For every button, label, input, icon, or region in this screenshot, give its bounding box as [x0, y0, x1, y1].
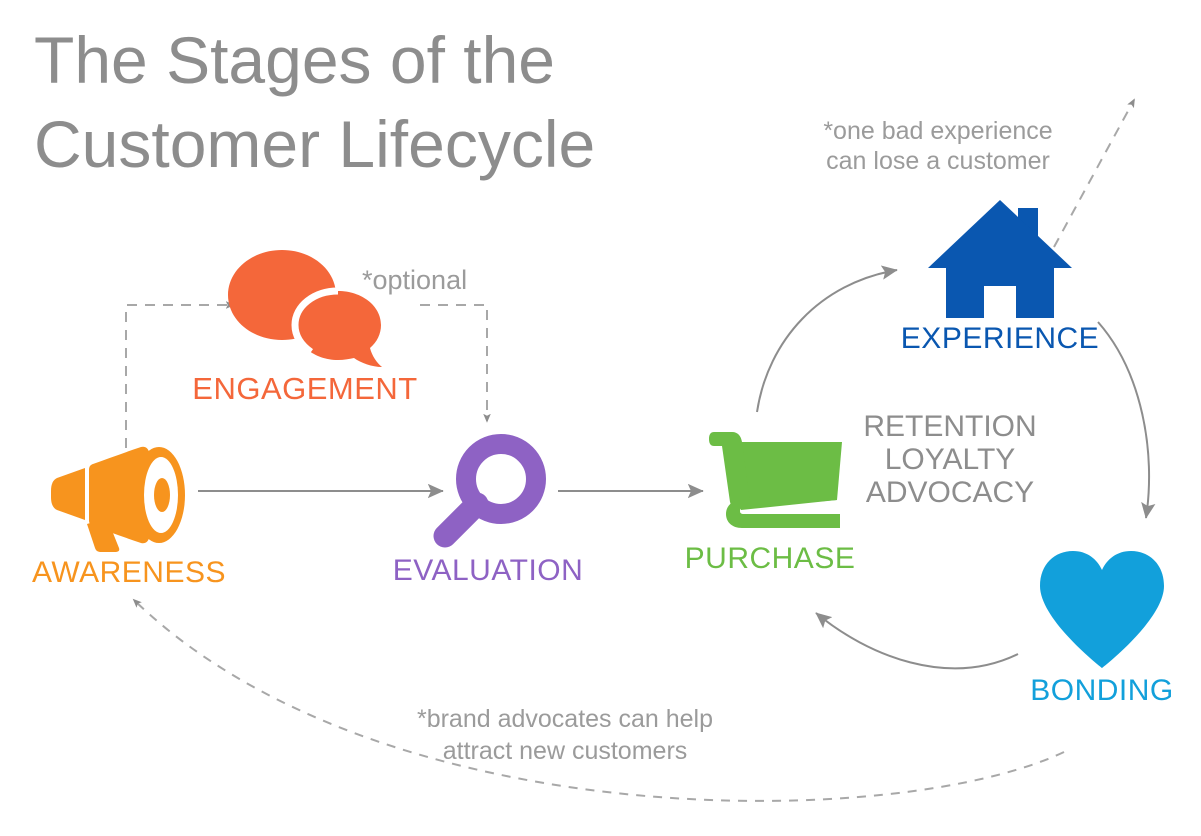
annotation-brand-advocates: *brand advocates can help attract new cu… — [374, 703, 756, 767]
page-title: The Stages of the Customer Lifecycle — [34, 18, 734, 186]
stage-label-awareness: AWARENESS — [14, 556, 244, 590]
stage-label-experience: EXPERIENCE — [900, 322, 1100, 356]
annotation-bad-experience: *one bad experience can lose a customer — [800, 116, 1076, 176]
bonding-icon-box — [1008, 548, 1196, 670]
arrow-bonding-to-awareness-dashed — [134, 600, 1064, 801]
purchase-icon-box — [666, 428, 874, 538]
awareness-icon-box — [14, 440, 244, 552]
stage-evaluation[interactable]: EVALUATION — [382, 434, 594, 588]
stage-purchase[interactable]: PURCHASE — [666, 428, 874, 576]
stage-label-engagement: ENGAGEMENT — [190, 372, 420, 406]
arrow-engagement-to-evaluation-dashed — [420, 305, 487, 421]
stage-experience[interactable]: EXPERIENCE — [900, 196, 1100, 356]
shopping-cart-icon — [694, 428, 846, 538]
stage-label-bonding: BONDING — [1008, 674, 1196, 708]
engagement-icon-box — [190, 246, 420, 368]
stage-label-purchase: PURCHASE — [666, 542, 874, 576]
magnifying-glass-icon — [425, 434, 551, 550]
arrow-bonding-to-purchase — [816, 613, 1018, 668]
experience-icon-box — [900, 196, 1100, 318]
stage-label-evaluation: EVALUATION — [382, 554, 594, 588]
arrow-purchase-to-experience — [757, 270, 897, 412]
infographic-canvas: The Stages of the Customer Lifecycle — [0, 0, 1201, 836]
house-icon — [926, 196, 1074, 318]
evaluation-icon-box — [382, 434, 594, 550]
stage-awareness[interactable]: AWARENESS — [14, 440, 244, 590]
megaphone-icon — [49, 440, 209, 552]
stage-engagement[interactable]: ENGAGEMENT — [190, 246, 420, 406]
retention-loyalty-advocacy-text: RETENTION LOYALTY ADVOCACY — [842, 410, 1058, 509]
heart-icon — [1036, 548, 1168, 670]
speech-bubbles-icon — [220, 246, 390, 368]
stage-bonding[interactable]: BONDING — [1008, 548, 1196, 708]
arrow-experience-to-bonding — [1098, 322, 1149, 518]
